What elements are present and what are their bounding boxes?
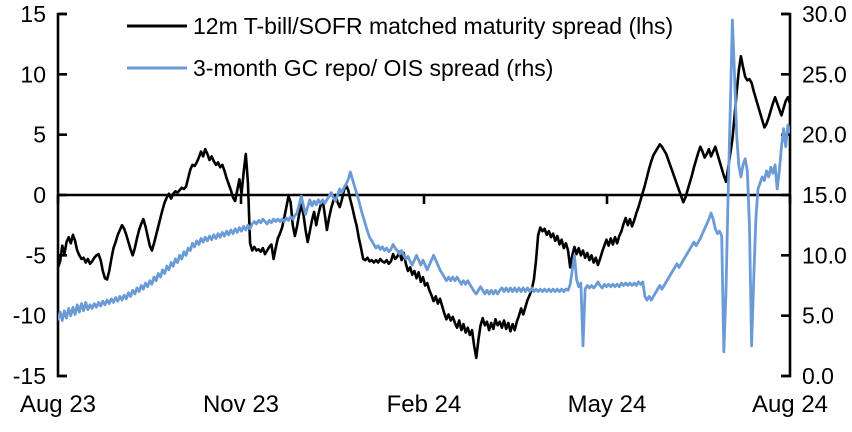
chart-container: 151050-5-10-15 30.025.020.015.010.05.00.… <box>0 0 852 432</box>
left-axis-tick-label: 10 <box>20 61 46 87</box>
left-axis-tick-label: -15 <box>13 363 46 389</box>
legend-label-gc-repo-ois: 3-month GC repo/ OIS spread (rhs) <box>193 55 553 81</box>
right-axis-tick-label: 0.0 <box>802 363 834 389</box>
left-axis-tick-label: 15 <box>20 1 46 27</box>
legend-label-tbill-sofr: 12m T-bill/SOFR matched maturity spread … <box>193 13 673 39</box>
left-axis-tick-label: 5 <box>33 122 46 148</box>
x-axis-tick-label: Feb 24 <box>387 391 462 418</box>
right-axis-tick-label: 10.0 <box>802 242 847 268</box>
right-axis-tick-label: 25.0 <box>802 61 847 87</box>
left-axis-tick-label: -5 <box>26 242 46 268</box>
x-axis-tick-label: Aug 23 <box>20 391 96 418</box>
x-axis-tick-label: Aug 24 <box>752 391 828 418</box>
x-axis-tick-label: Nov 23 <box>203 391 279 418</box>
right-axis-tick-label: 5.0 <box>802 303 834 329</box>
x-axis-tick-label: May 24 <box>568 391 647 418</box>
right-axis-tick-label: 15.0 <box>802 182 847 208</box>
chart-svg: 151050-5-10-15 30.025.020.015.010.05.00.… <box>0 0 852 432</box>
left-axis-tick-label: 0 <box>33 182 46 208</box>
right-axis-tick-label: 30.0 <box>802 1 847 27</box>
right-axis-tick-label: 20.0 <box>802 122 847 148</box>
left-axis-tick-label: -10 <box>13 303 46 329</box>
